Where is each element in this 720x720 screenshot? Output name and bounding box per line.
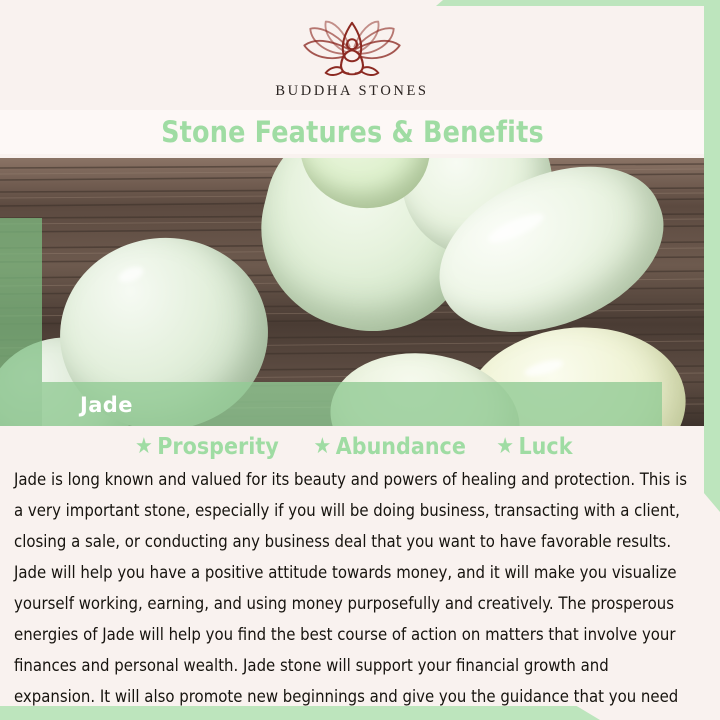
keyword-row: ★ Prosperity ★ Abundance ★ Luck	[0, 430, 704, 464]
description-text: Jade is long known and valued for its be…	[14, 464, 690, 720]
infographic-page: BUDDHA STONES Stone Features & Benefits	[0, 0, 720, 720]
keyword-label: Luck	[519, 434, 573, 460]
star-icon: ★	[496, 436, 514, 458]
keyword-prosperity: ★ Prosperity	[135, 434, 279, 460]
keyword-luck: ★ Luck	[496, 434, 572, 460]
stone-name-label: Jade	[80, 393, 133, 417]
keyword-label: Abundance	[336, 434, 466, 460]
stone-photo: Jade	[0, 158, 704, 426]
photo-caption-band	[42, 382, 662, 426]
logo: BUDDHA STONES	[0, 18, 704, 100]
lotus-meditation-icon	[286, 18, 418, 80]
star-icon: ★	[135, 436, 153, 458]
brand-header: BUDDHA STONES	[0, 6, 704, 110]
content-card: BUDDHA STONES Stone Features & Benefits	[0, 6, 704, 706]
brand-name: BUDDHA STONES	[275, 83, 428, 100]
description-block: Jade is long known and valued for its be…	[14, 464, 690, 720]
page-title: Stone Features & Benefits	[161, 115, 544, 149]
title-banner: Stone Features & Benefits	[0, 110, 704, 154]
keyword-label: Prosperity	[157, 434, 278, 460]
keyword-abundance: ★ Abundance	[313, 434, 465, 460]
star-icon: ★	[313, 436, 331, 458]
photo-left-green-overlay	[0, 218, 42, 426]
